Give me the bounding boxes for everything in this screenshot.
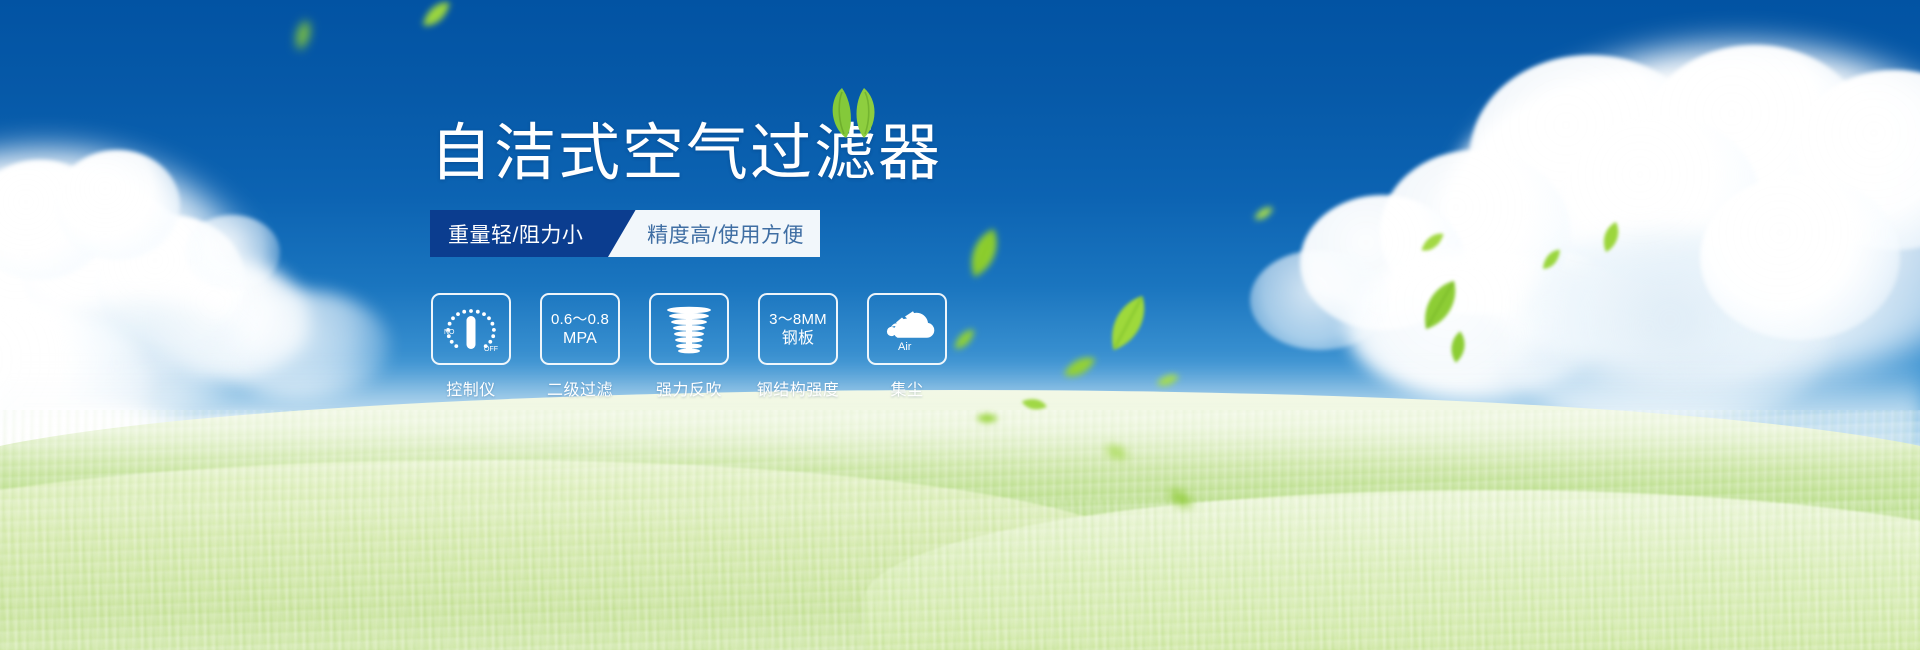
tab-label: 重量轻/阻力小 [430,219,583,249]
air-label: Air [898,341,912,353]
banner-content: 自洁式空气过滤器 重量轻/阻力小 精度高/使用方便 [430,118,1130,400]
pressure-text-icon: 0.6～0.8 MPA [551,310,609,348]
feature-icon-box: 3～8MM 钢板 [758,293,838,365]
feature-label: 强力反吹 [656,376,722,400]
feature-item-controller[interactable]: NO OFF 控制仪 [430,293,512,400]
feature-label: 集尘 [890,376,923,400]
leaf-icon [1443,328,1473,365]
feature-label: 二级过滤 [547,376,613,400]
pressure-line-1: 0.6～0.8 [551,310,609,329]
title-row: 自洁式空气过滤器 [430,118,1130,196]
feature-item-pressure[interactable]: 0.6～0.8 MPA 二级过滤 [539,293,621,400]
steel-line-1: 3～8MM [769,310,827,329]
tab-precision-convenience[interactable]: 精度高/使用方便 [608,210,820,257]
feature-item-backblow[interactable]: 强力反吹 [648,293,730,400]
feature-icon-box [649,293,729,365]
gauge-label-no: NO [444,329,455,336]
filter-element-icon [662,301,716,357]
page-title: 自洁式空气过滤器 [430,118,1130,190]
hero-banner: 自洁式空气过滤器 重量轻/阻力小 精度高/使用方便 [0,0,1920,650]
steel-plate-text-icon: 3～8MM 钢板 [769,310,827,348]
gauge-control-icon: NO OFF [440,301,502,357]
feature-list: NO OFF 控制仪 0.6～0.8 MPA 二级过滤 [430,293,1130,400]
feature-icon-box: Air [867,293,947,365]
sprout-leaves-icon [820,86,886,140]
feature-item-dust-collection[interactable]: Air 集尘 [866,293,948,400]
feature-icon-box: NO OFF [431,293,511,365]
steel-line-2: 钢板 [769,329,827,348]
gauge-label-off: OFF [484,346,498,353]
feature-icon-box: 0.6～0.8 MPA [540,293,620,365]
feature-label: 控制仪 [446,376,496,400]
grass-texture-highlight [0,500,1920,650]
feature-label: 钢结构强度 [757,376,840,400]
subtitle-tabs: 重量轻/阻力小 精度高/使用方便 [430,210,830,257]
tab-label: 精度高/使用方便 [647,219,820,249]
tab-weight-resistance[interactable]: 重量轻/阻力小 [430,210,642,257]
pressure-line-2: MPA [551,329,609,348]
air-cloud-icon: Air [878,301,936,357]
feature-item-steel[interactable]: 3～8MM 钢板 钢结构强度 [757,293,839,400]
